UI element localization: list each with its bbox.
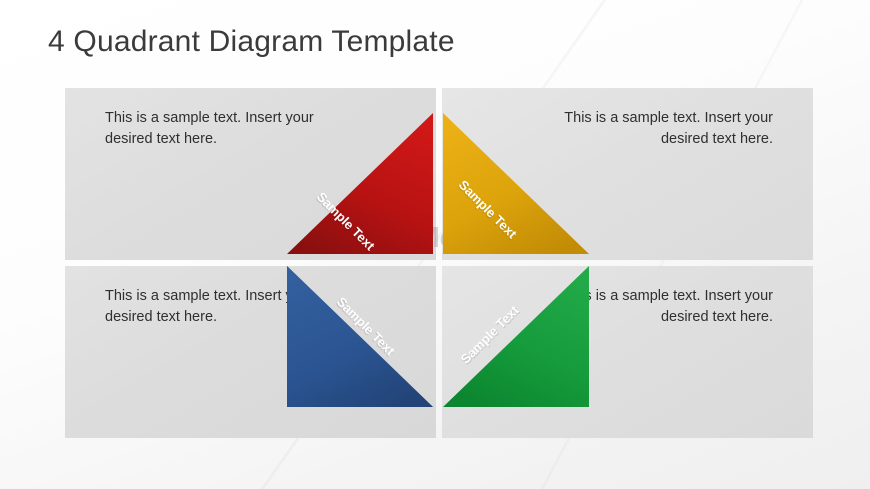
- triangle-top-left-shape: [287, 113, 433, 254]
- triangle-bottom-right-shape: [443, 266, 589, 407]
- quadrant-text-top-right: This is a sample text. Insert your desir…: [561, 108, 773, 149]
- quadrant-text-top-left: This is a sample text. Insert your desir…: [105, 108, 317, 149]
- triangle-bottom-left-shape: [287, 266, 433, 407]
- triangle-top-right[interactable]: Sample Text: [443, 113, 589, 254]
- page-title: 4 Quadrant Diagram Template: [48, 25, 455, 59]
- quadrant-text-bottom-right: This is a sample text. Insert your desir…: [561, 286, 773, 327]
- triangle-bottom-right[interactable]: Sample Text: [443, 266, 589, 407]
- triangle-top-left[interactable]: Sample Text: [287, 113, 433, 254]
- triangle-top-right-shape: [443, 113, 589, 254]
- slide-canvas: 4 Quadrant Diagram Template This is a sa…: [0, 0, 870, 489]
- quadrant-text-bottom-left: This is a sample text. Insert your desir…: [105, 286, 317, 327]
- triangle-bottom-left[interactable]: Sample Text: [287, 266, 433, 407]
